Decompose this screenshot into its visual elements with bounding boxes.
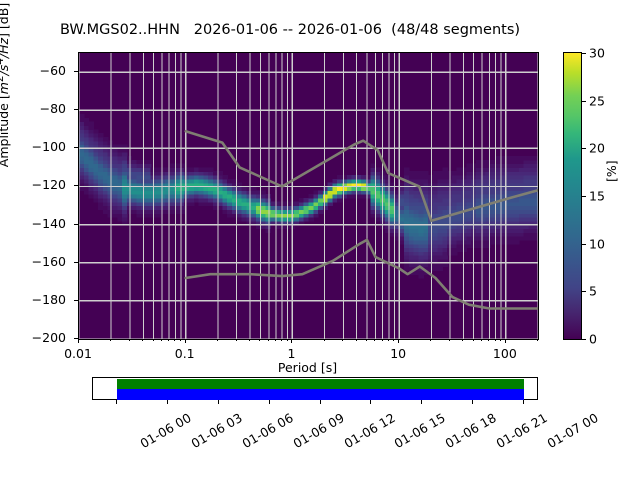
- colorbar-tick-label: 25: [589, 93, 605, 108]
- x-tick-mark: [268, 339, 269, 341]
- colorbar-tick-mark: [582, 291, 586, 292]
- x-tick-mark: [500, 339, 501, 341]
- x-tick-mark: [488, 339, 489, 341]
- colorbar-tick-label: 10: [589, 236, 605, 251]
- x-tick-mark: [217, 339, 218, 341]
- timeline-date-label: 01-06 21: [494, 410, 550, 451]
- y-tick-mark: [74, 71, 78, 72]
- x-tick-mark: [281, 339, 282, 341]
- colorbar-tick-label: 15: [589, 189, 605, 204]
- timeline-date-label: 01-06 15: [392, 410, 448, 451]
- colorbar-tick-mark: [582, 244, 586, 245]
- x-tick-mark: [481, 339, 482, 341]
- timeline-blue-bar: [117, 389, 524, 400]
- y-tick-label: −80: [40, 101, 66, 116]
- x-tick-mark: [449, 339, 450, 341]
- x-tick-mark: [291, 339, 292, 343]
- y-tick-label: −160: [32, 254, 66, 269]
- x-tick-mark: [236, 339, 237, 341]
- x-tick-mark: [388, 339, 389, 341]
- timeline-date-label: 01-06 03: [188, 410, 244, 451]
- x-tick-mark: [142, 339, 143, 341]
- timeline-date-label: 01-06 06: [239, 410, 295, 451]
- y-tick-mark: [74, 262, 78, 263]
- timeline-date-label: 01-06 12: [341, 410, 397, 451]
- x-tick-mark: [505, 339, 506, 343]
- x-tick-mark: [398, 339, 399, 343]
- colorbar-tick-label: 5: [589, 284, 597, 299]
- y-tick-mark: [74, 147, 78, 148]
- x-tick-mark: [287, 339, 288, 341]
- ppsd-density-canvas: [79, 53, 538, 339]
- x-tick-mark: [161, 339, 162, 341]
- x-tick-label: 10: [390, 346, 406, 361]
- x-tick-mark: [374, 339, 375, 341]
- y-tick-mark: [74, 109, 78, 110]
- x-tick-mark: [168, 339, 169, 341]
- colorbar-tick-label: 30: [589, 46, 605, 61]
- timeline-green-bar: [117, 379, 524, 389]
- x-tick-mark: [275, 339, 276, 341]
- x-tick-label: 0.01: [64, 346, 92, 361]
- plot-title: BW.MGS02..HHN 2026-01-06 -- 2026-01-06 (…: [0, 22, 580, 38]
- x-tick-mark: [110, 339, 111, 341]
- x-tick-mark: [342, 339, 343, 341]
- colorbar-tick-mark: [582, 53, 586, 54]
- x-tick-mark: [356, 339, 357, 341]
- x-tick-mark: [430, 339, 431, 341]
- x-tick-mark: [324, 339, 325, 341]
- y-tick-label: −140: [32, 216, 66, 231]
- colorbar-tick-label: 0: [589, 332, 597, 347]
- x-tick-mark: [185, 339, 186, 343]
- y-tick-mark: [74, 224, 78, 225]
- colorbar-tick-mark: [582, 196, 586, 197]
- x-tick-mark: [180, 339, 181, 341]
- x-tick-label: 1: [287, 346, 295, 361]
- ppsd-plot-area[interactable]: [78, 52, 539, 340]
- timeline-date-labels: 01-06 0001-06 0301-06 0601-06 0901-06 12…: [0, 404, 640, 474]
- colorbar-label: [%]: [604, 160, 619, 182]
- y-tick-label: −60: [40, 63, 66, 78]
- timeline-date-label: 01-06 00: [138, 410, 194, 451]
- x-tick-mark: [495, 339, 496, 341]
- timeline-frame[interactable]: [92, 377, 538, 400]
- x-tick-mark: [78, 339, 79, 343]
- x-tick-mark: [393, 339, 394, 341]
- y-tick-label: −100: [32, 139, 66, 154]
- colorbar-tick-mark: [582, 148, 586, 149]
- x-tick-mark: [366, 339, 367, 341]
- x-tick-label: 100: [493, 346, 517, 361]
- colorbar-ticks: 051015202530: [563, 52, 640, 340]
- x-tick-mark: [174, 339, 175, 341]
- timeline-date-label: 01-06 18: [443, 410, 499, 451]
- x-tick-mark: [259, 339, 260, 341]
- x-tick-mark: [462, 339, 463, 341]
- x-tick-mark: [537, 339, 538, 341]
- timeline-date-label: 01-07 00: [545, 410, 601, 451]
- x-tick-label: 0.1: [175, 346, 195, 361]
- y-tick-label: −180: [32, 292, 66, 307]
- ppsd-figure: BW.MGS02..HHN 2026-01-06 -- 2026-01-06 (…: [0, 0, 640, 480]
- colorbar-tick-mark: [582, 101, 586, 102]
- x-axis-label: Period [s]: [78, 360, 537, 375]
- nlnm-curve: [186, 240, 538, 309]
- x-tick-mark: [249, 339, 250, 341]
- y-tick-mark: [74, 185, 78, 186]
- x-tick-mark: [473, 339, 474, 341]
- x-tick-mark: [129, 339, 130, 341]
- x-tick-mark: [382, 339, 383, 341]
- y-tick-label: −120: [32, 177, 66, 192]
- colorbar-tick-label: 20: [589, 141, 605, 156]
- y-axis-label: Amplitude [m2/s4/Hz] [dB]: [0, 0, 11, 195]
- y-tick-mark: [74, 300, 78, 301]
- timeline-date-label: 01-06 09: [290, 410, 346, 451]
- colorbar-tick-mark: [582, 339, 586, 340]
- x-tick-mark: [153, 339, 154, 341]
